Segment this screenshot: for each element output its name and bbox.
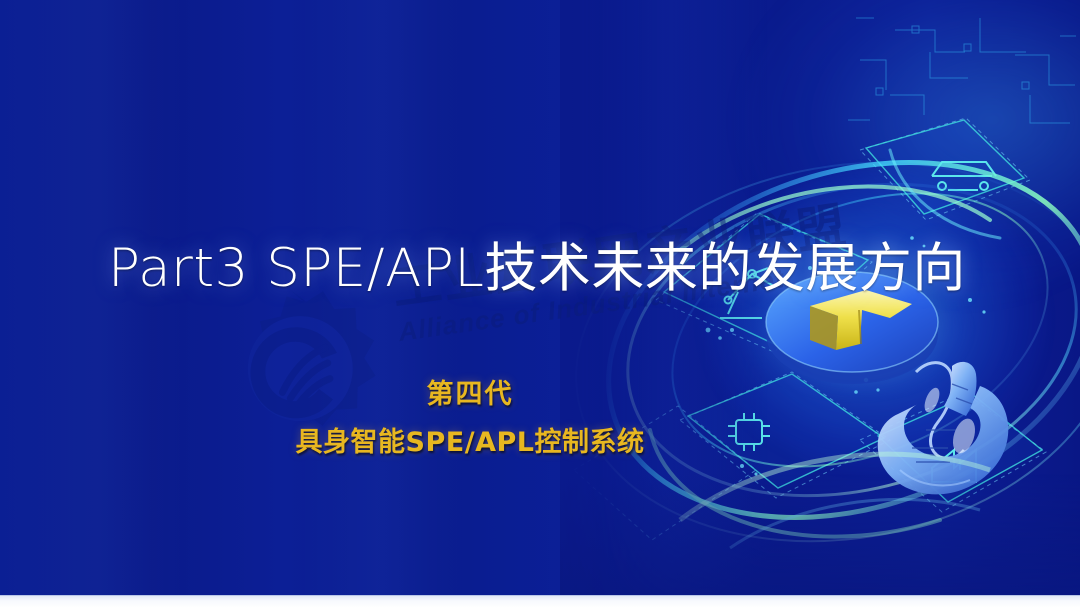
art-bottom-fade [560,0,1080,608]
tech-illustration [560,0,1080,608]
slide-title: Part3 SPE/APL技术未来的发展方向 [108,226,966,302]
footer-strip [0,595,1080,608]
slide-subtitle: 第四代 具身智能SPE/APL控制系统 [0,372,940,459]
subtitle-line-2: 具身智能SPE/APL控制系统 [0,420,940,459]
presentation-slide: 工业互联网产业联盟 Alliance of Industrial Interne… [0,0,1080,608]
subtitle-line-1: 第四代 [0,372,940,411]
footer-strip-edge [0,595,1080,596]
